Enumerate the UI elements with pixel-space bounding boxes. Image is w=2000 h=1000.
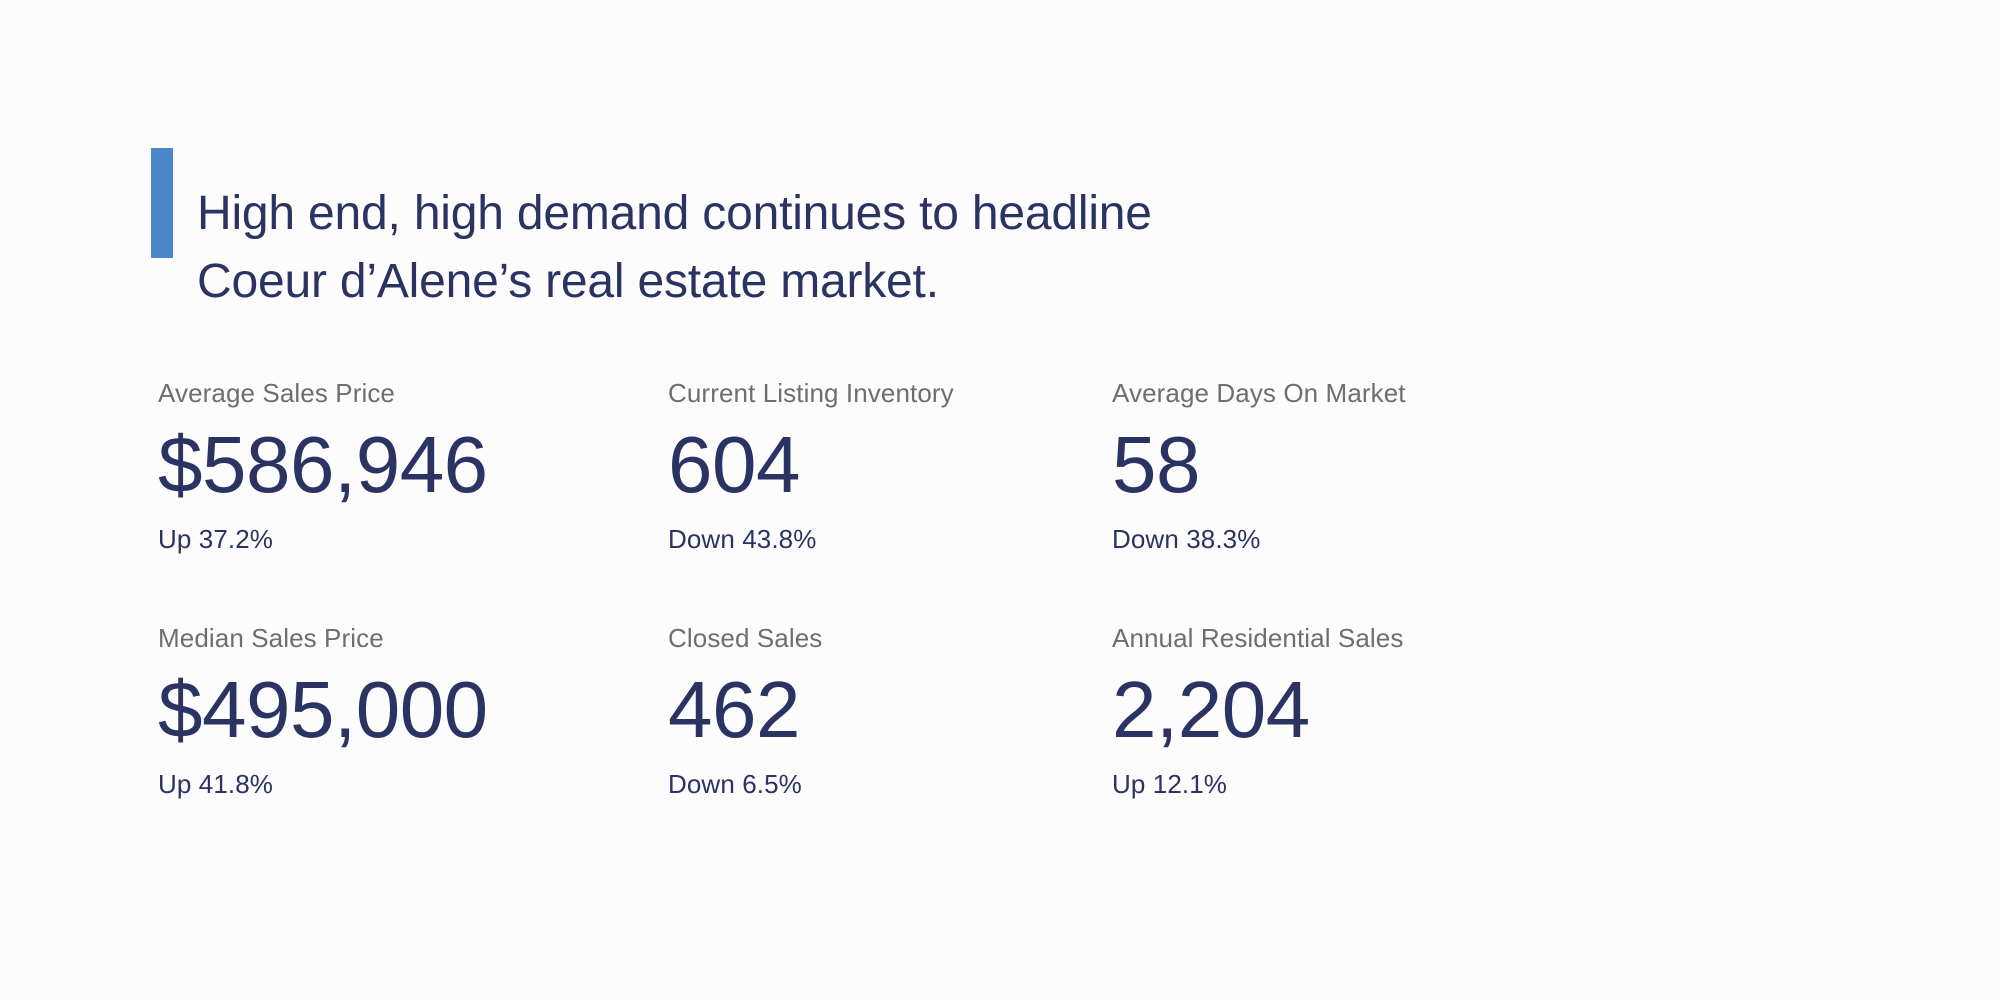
stat-value: $586,946 xyxy=(158,424,668,506)
stat-change: Up 41.8% xyxy=(158,769,668,799)
stats-grid: Average Sales Price $586,946 Up 37.2% Cu… xyxy=(158,378,1612,868)
page-title: High end, high demand continues to headl… xyxy=(197,180,1152,316)
stat-card-annual-residential-sales: Annual Residential Sales 2,204 Up 12.1% xyxy=(1112,623,1612,868)
stat-card-closed-sales: Closed Sales 462 Down 6.5% xyxy=(668,623,1112,868)
stat-value: 2,204 xyxy=(1112,669,1612,751)
stat-card-current-listing-inventory: Current Listing Inventory 604 Down 43.8% xyxy=(668,378,1112,623)
stat-change: Down 43.8% xyxy=(668,524,1112,554)
accent-bar xyxy=(151,148,173,258)
stat-value: 604 xyxy=(668,424,1112,506)
stat-value: 462 xyxy=(668,669,1112,751)
stat-label: Closed Sales xyxy=(668,623,1112,653)
stat-card-median-sales-price: Median Sales Price $495,000 Up 41.8% xyxy=(158,623,668,868)
stat-change: Up 37.2% xyxy=(158,524,668,554)
stat-value: $495,000 xyxy=(158,669,668,751)
stat-label: Average Days On Market xyxy=(1112,378,1612,408)
stat-label: Annual Residential Sales xyxy=(1112,623,1612,653)
headline-block: High end, high demand continues to headl… xyxy=(151,148,1152,348)
stat-change: Down 6.5% xyxy=(668,769,1112,799)
stat-label: Average Sales Price xyxy=(158,378,668,408)
stat-card-average-days-on-market: Average Days On Market 58 Down 38.3% xyxy=(1112,378,1612,623)
stat-change: Down 38.3% xyxy=(1112,524,1612,554)
stat-label: Current Listing Inventory xyxy=(668,378,1112,408)
stat-label: Median Sales Price xyxy=(158,623,668,653)
infographic-page: High end, high demand continues to headl… xyxy=(0,0,2000,1000)
stat-change: Up 12.1% xyxy=(1112,769,1612,799)
stat-card-average-sales-price: Average Sales Price $586,946 Up 37.2% xyxy=(158,378,668,623)
stat-value: 58 xyxy=(1112,424,1612,506)
